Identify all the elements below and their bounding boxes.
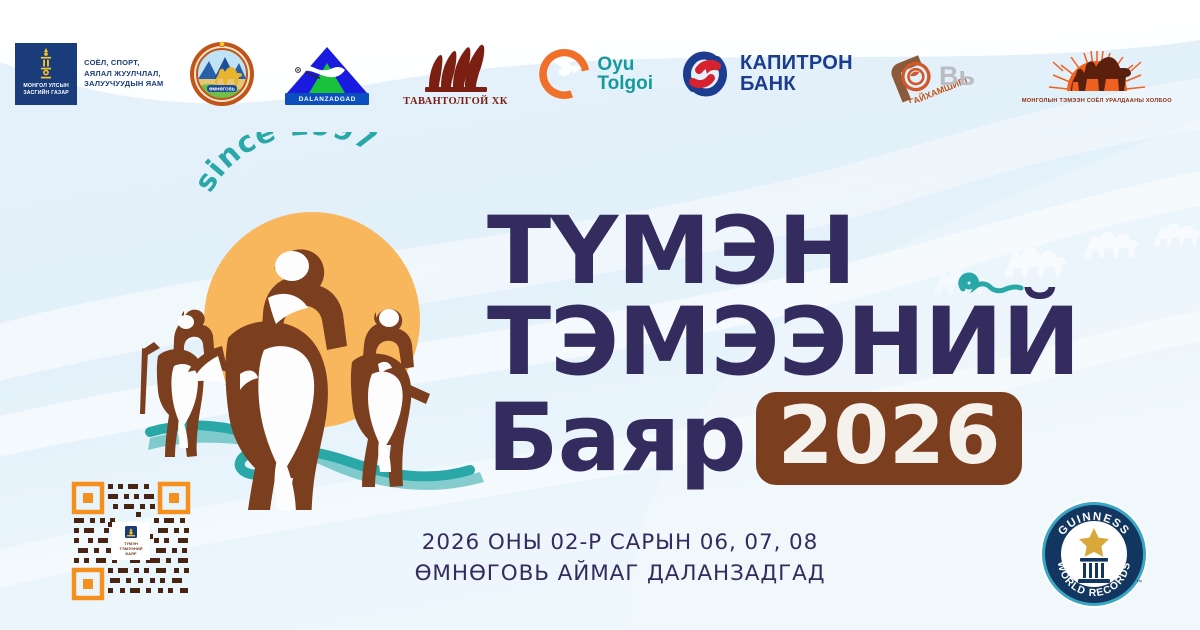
year-badge: 2026 — [756, 392, 1023, 486]
oyu-tolgoi-label-line2: Tolgoi — [597, 74, 653, 93]
ministry-name: СОЁЛ, СПОРТ, АЯЛАЛ ЖУУЛЧЛАЛ, ЗАЛУУЧУУДЫН… — [84, 58, 163, 91]
government-emblem: МОНГОЛ УЛСЫН ЗАСГИЙН ГАЗАР — [15, 43, 77, 105]
kapitron-label-line2: БАНК — [740, 74, 853, 95]
qr-center-logo: ТҮМЭН ТЭМЭЭНИЙ БАЯР — [112, 522, 150, 560]
oyu-tolgoi-label-line1: Oyu — [597, 55, 653, 74]
camel-association-sun-icon — [1009, 43, 1185, 105]
kapitron-label-line1: КАПИТРОН — [740, 53, 853, 74]
government-emblem-line2: ЗАСГИЙН ГАЗАР — [23, 90, 69, 96]
svg-text:since 1997: since 1997 — [196, 132, 383, 198]
sponsor-logo-gaikhamshig[interactable]: ГАЙХАМШИГТ Вь — [879, 39, 983, 109]
sponsor-logo-kapitron-bank[interactable]: КАПИТРОН БАНК — [679, 39, 853, 109]
camel-riders-illustration — [140, 170, 500, 510]
headline-line-3: Баяр — [487, 395, 746, 482]
aimag-seal-icon: ӨМНӨГОВЬ — [189, 41, 255, 107]
sponsor-logo-dalanzadgad[interactable]: DALANZADGAD — [281, 39, 373, 109]
guinness-world-records-badge[interactable]: GUINNESS WORLD RECORDS ™ — [1038, 498, 1150, 610]
since-badge-text: since 1997 — [196, 132, 383, 198]
oyu-tolgoi-mark-icon — [537, 47, 591, 101]
dalanzadgad-label: DALANZADGAD — [299, 96, 356, 103]
event-details: 2026 ОНЫ 02-Р САРЫН 06, 07, 08 ӨМНӨГОВЬ … — [330, 528, 910, 589]
gwr-trademark: ™ — [1136, 579, 1142, 586]
headline-line-3-row: Баяр 2026 — [487, 392, 1080, 486]
event-date-line: 2026 ОНЫ 02-Р САРЫН 06, 07, 08 — [330, 528, 910, 559]
sponsor-logo-umnugovi-aimag[interactable]: ӨМНӨГОВЬ — [189, 39, 255, 109]
event-poster: МОНГОЛ УЛСЫН ЗАСГИЙН ГАЗАР СОЁЛ, СПОРТ, … — [0, 0, 1200, 630]
headline-line-2-wrap: ТЭМЭЭНИЙ — [487, 299, 1080, 386]
since-badge: since 1997 — [196, 132, 416, 212]
headline-block: ТҮМЭН ТЭМЭЭНИЙ Баяр 2026 — [487, 208, 1080, 485]
government-emblem-line1: МОНГОЛ УЛСЫН — [23, 83, 69, 89]
qr-center-label-3: БАЯР — [125, 551, 136, 556]
event-place-line: ӨМНӨГОВЬ АЙМАГ ДАЛАНЗАДГАД — [330, 559, 910, 590]
sponsor-logo-bar: МОНГОЛ УЛСЫН ЗАСГИЙН ГАЗАР СОЁЛ, СПОРТ, … — [0, 34, 1200, 114]
teal-curl-accent-icon — [955, 267, 1025, 307]
soyombo-icon — [37, 47, 55, 81]
sponsor-logo-oyu-tolgoi[interactable]: Oyu Tolgoi — [537, 39, 653, 109]
camel-association-label: МОНГОЛЫН ТЭМЭЭН СОЁЛ УРАЛДААНЫ ХОЛБОО — [1009, 98, 1185, 104]
kapitron-mark-icon — [679, 48, 731, 100]
sponsor-logo-camel-association[interactable]: МОНГОЛЫН ТЭМЭЭН СОЁЛ УРАЛДААНЫ ХОЛБОО — [1009, 39, 1185, 109]
sponsor-logo-tavantolgoi[interactable]: ТАВАНТОЛГОЙ ХК — [399, 39, 511, 109]
gaikhamshig-suffix: Вь — [939, 61, 975, 91]
aimag-seal-label: ӨМНӨГОВЬ — [210, 86, 236, 91]
sponsor-logo-government-of-mongolia[interactable]: МОНГОЛ УЛСЫН ЗАСГИЙН ГАЗАР СОЁЛ, СПОРТ, … — [15, 39, 163, 109]
gaikhamshig-mark-icon: ГАЙХАМШИГТ Вь — [879, 45, 983, 103]
qr-code[interactable]: ТҮМЭН ТЭМЭЭНИЙ БАЯР — [68, 478, 194, 604]
dalanzadgad-band: DALANZADGAD — [285, 93, 369, 105]
tavantolgoi-label: ТАВАНТОЛГОЙ ХК — [399, 96, 511, 107]
